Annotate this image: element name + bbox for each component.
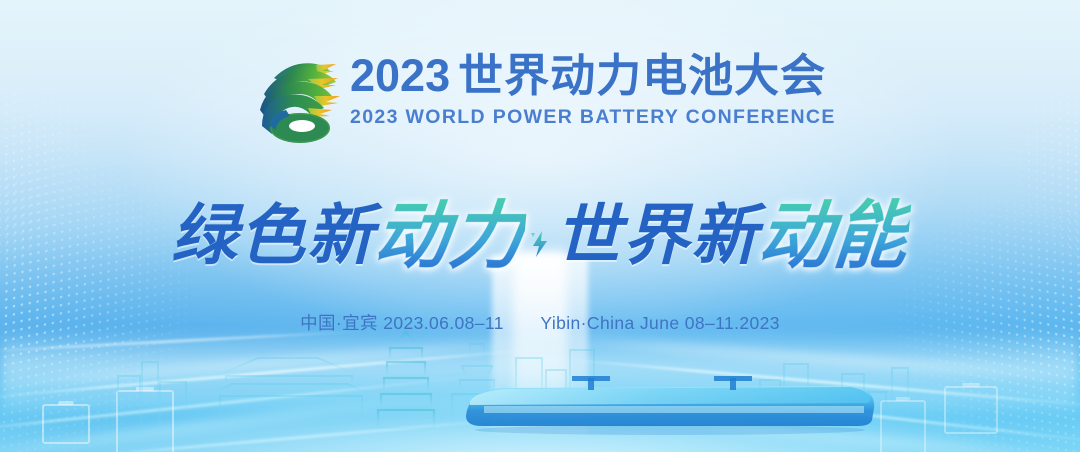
lightning-bolt-icon	[529, 229, 551, 259]
title-english: 2023 WORLD POWER BATTERY CONFERENCE	[350, 106, 836, 129]
title-year: 2023	[350, 50, 450, 101]
globe-logo	[252, 52, 344, 148]
title-chinese: 世界动力电池大会	[458, 50, 826, 101]
dateline-en-location: Yibin·China	[540, 313, 634, 333]
dateline: 中国·宜宾 2023.06.08–11 Yibin·China June 08–…	[0, 310, 1080, 335]
dateline-cn-date: 2023.06.08–11	[383, 313, 504, 333]
page-title: 2023世界动力电池大会	[350, 52, 836, 99]
conference-banner: 2023世界动力电池大会 2023 WORLD POWER BATTERY CO…	[0, 0, 1080, 452]
dateline-cn-location: 中国·宜宾	[300, 313, 378, 333]
slogan: 绿色新动力 世界新动能	[0, 176, 1080, 283]
dateline-en-date: June 08–11.2023	[640, 313, 780, 333]
high-speed-train	[460, 376, 880, 436]
slogan-part2-solid: 世界新	[555, 182, 759, 278]
title-block: 2023世界动力电池大会 2023 WORLD POWER BATTERY CO…	[350, 52, 836, 129]
slogan-part1-brush: 动力	[370, 176, 529, 283]
slogan-part1-solid: 绿色新	[171, 182, 375, 278]
slogan-part2-brush: 动能	[754, 176, 913, 283]
